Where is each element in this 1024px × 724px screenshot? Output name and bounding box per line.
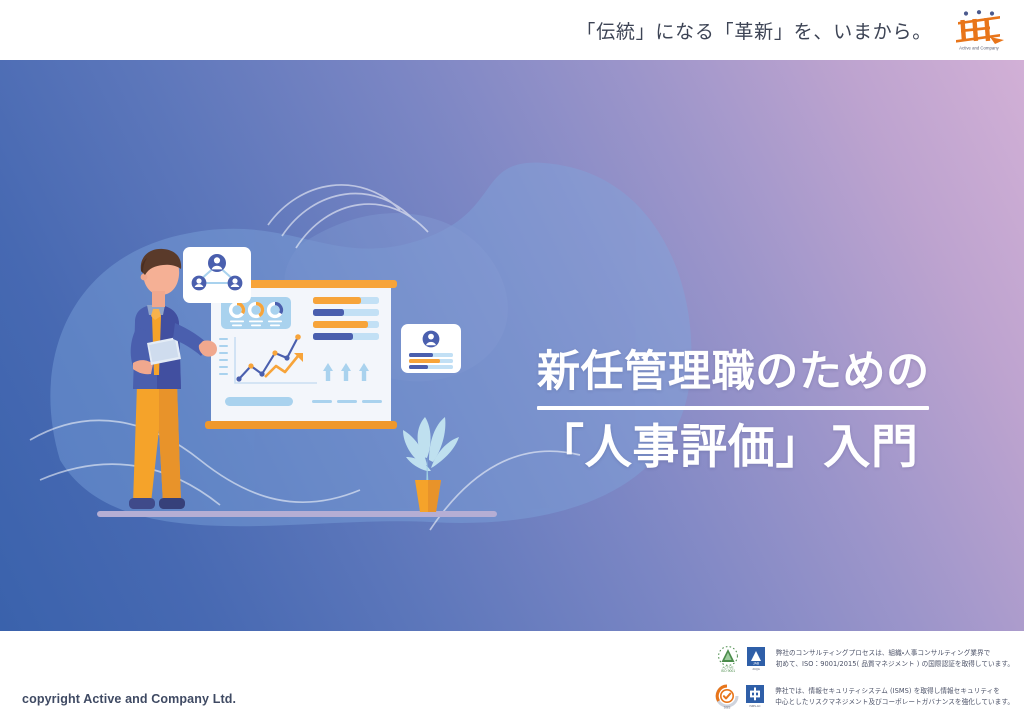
certification-isms: SGS ISMS-AC 弊社では、情報セキュリティシステム (ISMS) を取得… (714, 684, 1014, 710)
svg-text:JAB: JAB (753, 662, 760, 666)
person-icon (192, 276, 207, 291)
iso-9001-jab-mark-icon: ACTIVE ISO 9001 (715, 645, 741, 673)
hh-monogram-icon: Active and Company (948, 9, 1010, 51)
main-gradient-panel: 新任管理職のための 「人事評価」入門 (0, 60, 1024, 631)
svg-text:JCQA: JCQA (752, 667, 760, 671)
business-presentation-illustration (85, 225, 515, 525)
certification-iso9001: ACTIVE ISO 9001 JAB JCQA 弊社のコンサルティングプロセス… (715, 645, 1014, 673)
sgs-certification-mark-icon: SGS (714, 684, 740, 710)
title-line-2: 「人事評価」入門 (537, 422, 937, 475)
cert-line-1: 弊社では、情報セキュリティシステム (ISMS) を取得し情報セキュリティを (775, 686, 1014, 697)
certification-isms-text: 弊社では、情報セキュリティシステム (ISMS) を取得し情報セキュリティを 中… (775, 686, 1014, 709)
profile-card (401, 324, 461, 373)
cert-line-1: 弊社のコンサルティングプロセスは、組織・人事コンサルティング業界で (776, 648, 1014, 659)
person-icon (208, 254, 226, 272)
slide-header: 「伝統」になる「革新」を、いまから。 Active and Compa (0, 0, 1024, 60)
certification-marks: ACTIVE ISO 9001 JAB JCQA (715, 645, 767, 673)
person-icon (228, 276, 243, 291)
org-chart-card (183, 247, 251, 303)
jaco-accreditation-mark-icon: JAB JCQA (745, 645, 767, 673)
svg-text:ISMS-AC: ISMS-AC (750, 704, 761, 708)
copyright-text: copyright Active and Company Ltd. (22, 692, 236, 706)
slide-title-block: 新任管理職のための 「人事評価」入門 (537, 348, 937, 475)
header-tagline: 「伝統」になる「革新」を、いまから。 (576, 17, 932, 44)
title-line-1: 新任管理職のための (537, 348, 937, 396)
person-icon (423, 331, 440, 348)
certification-iso9001-text: 弊社のコンサルティングプロセスは、組織・人事コンサルティング業界で 初めて、IS… (776, 648, 1014, 671)
cert-line-2: 初めて、ISO：9001/2015( 品質マネジメント ) の国際認証を取得して… (776, 659, 1014, 670)
isms-jipdec-mark-icon: ISMS-AC (744, 684, 766, 710)
cert-line-2: 中心としたリスクマネジメント及びコーポレートガバナンスを強化しています。 (775, 697, 1014, 708)
title-divider (537, 406, 929, 410)
svg-text:Active and Company: Active and Company (959, 46, 999, 51)
svg-text:SGS: SGS (724, 705, 731, 709)
certification-marks: SGS ISMS-AC (714, 684, 766, 710)
floor-line (97, 511, 497, 517)
slide: 「伝統」になる「革新」を、いまから。 Active and Compa (0, 0, 1024, 724)
company-logo: Active and Company (948, 9, 1010, 51)
svg-text:ISO 9001: ISO 9001 (721, 669, 735, 673)
potted-plant (403, 417, 459, 512)
